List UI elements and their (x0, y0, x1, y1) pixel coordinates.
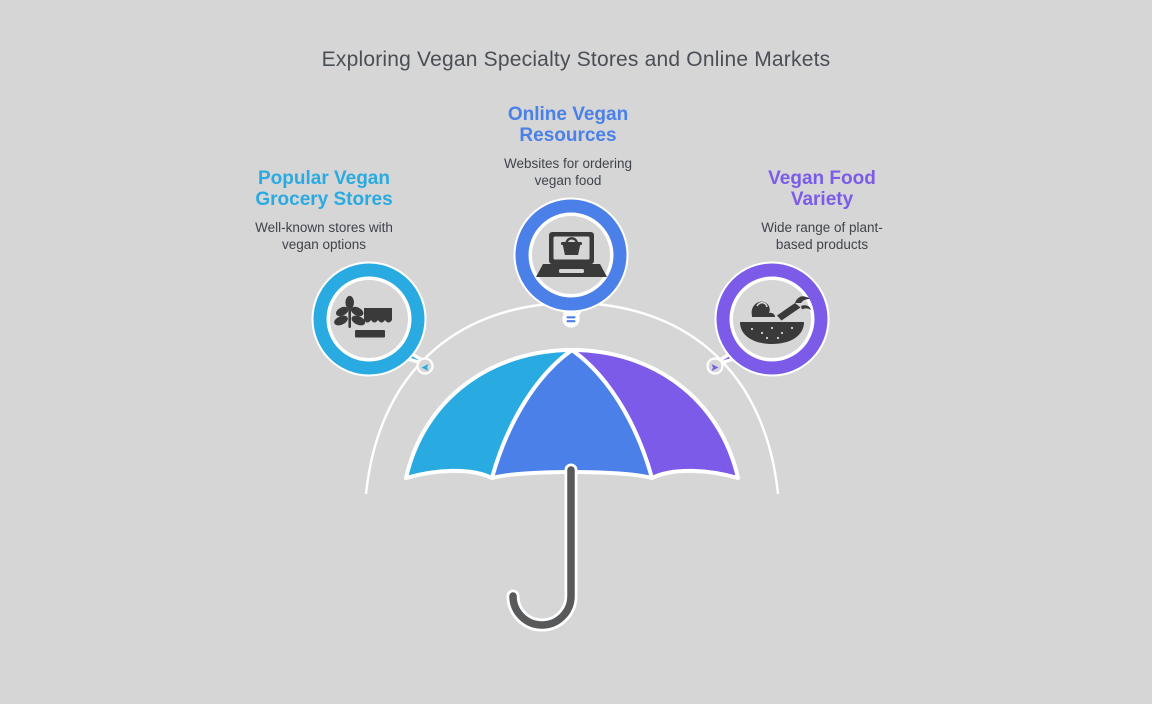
page-title: Exploring Vegan Specialty Stores and Onl… (0, 48, 1152, 72)
label-description-left-line2: vegan options (282, 237, 366, 252)
infographic-canvas: Exploring Vegan Specialty Stores and Onl… (0, 0, 1152, 704)
label-description-left-line1: Well-known stores with (255, 220, 393, 235)
label-description-right: Wide range of plant- based products (722, 220, 922, 253)
label-vegan-food-variety: Vegan Food Variety Wide range of plant- … (722, 168, 922, 253)
label-heading-center-line1: Online Vegan (508, 104, 628, 125)
connector-node-left[interactable] (418, 359, 433, 374)
label-heading-center-line2: Resources (519, 125, 616, 146)
label-heading-right-line2: Variety (791, 189, 853, 210)
label-heading-left-line2: Grocery Stores (255, 189, 392, 210)
label-heading-right-line1: Vegan Food (768, 168, 876, 189)
label-description-right-line2: based products (776, 237, 868, 252)
label-heading-left-line1: Popular Vegan (258, 168, 390, 189)
label-heading-right: Vegan Food Variety (722, 168, 922, 211)
connector-node-right[interactable] (708, 359, 723, 374)
label-description-center-line2: vegan food (535, 173, 602, 188)
label-description-left: Well-known stores with vegan options (220, 220, 428, 253)
label-description-center: Websites for ordering vegan food (466, 156, 670, 189)
label-heading-center: Online Vegan Resources (466, 104, 670, 147)
label-description-center-line1: Websites for ordering (504, 156, 632, 171)
label-popular-vegan-grocery-stores: Popular Vegan Grocery Stores Well-known … (220, 168, 428, 253)
label-online-vegan-resources: Online Vegan Resources Websites for orde… (466, 104, 670, 189)
connector-node-center[interactable] (564, 312, 579, 327)
label-description-right-line1: Wide range of plant- (761, 220, 883, 235)
label-heading-left: Popular Vegan Grocery Stores (220, 168, 428, 211)
